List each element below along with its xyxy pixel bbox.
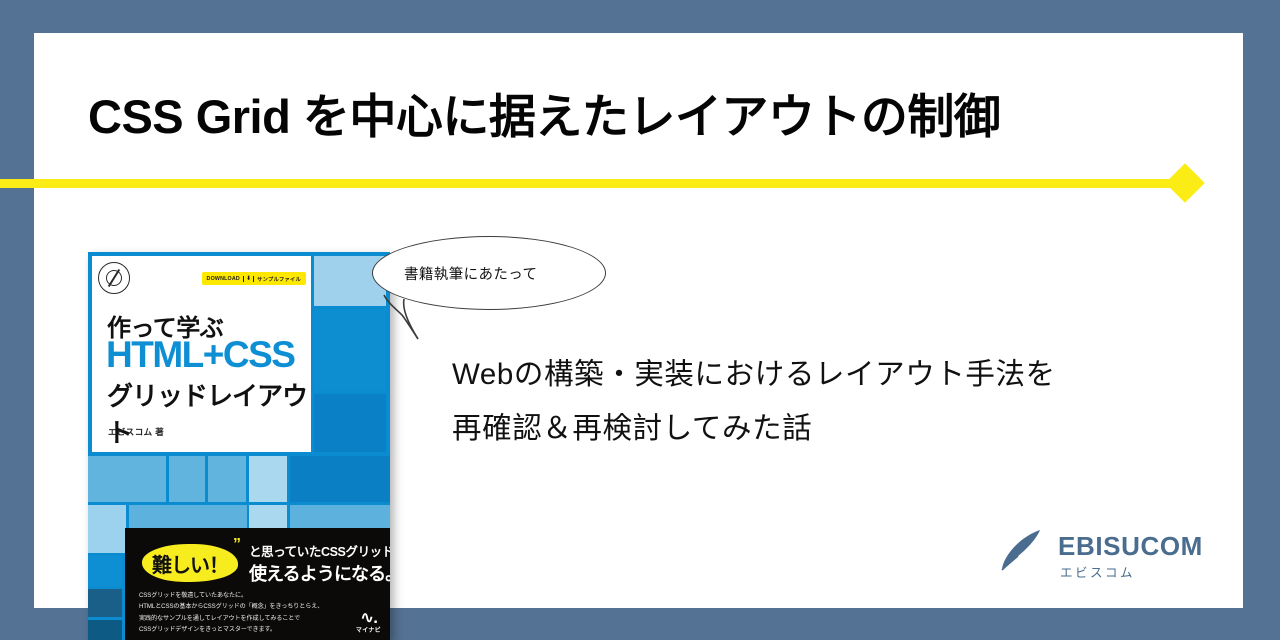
speech-bubble-text: 書籍執筆にあたって — [404, 263, 537, 284]
speech-bubble-tail-icon — [382, 293, 442, 341]
book-burst-badge: 難しい！ — [142, 544, 238, 582]
download-label: DOWNLOAD — [207, 276, 240, 282]
book-band-headline1: と思っていたCSSグリッドが — [249, 541, 390, 560]
page-title: CSS Grid を中心に据えたレイアウトの制御 — [88, 86, 1188, 147]
book-band-headline2: 使えるようになる。 — [249, 560, 390, 586]
slide-root: CSS Grid を中心に据えたレイアウトの制御 — [0, 0, 1280, 640]
ebisucom-name: EBISUCOM — [1058, 531, 1203, 562]
publisher-name: マイナビ — [356, 625, 381, 634]
book-cover-face: DOWNLOAD ⬇ サンプルファイル 作って学ぶ HTML+CSS グリッドレ… — [92, 256, 311, 452]
download-sample-label: サンプルファイル — [257, 275, 301, 283]
ebisucom-logo: EBISUCOM エビスコム — [1000, 524, 1185, 586]
quote-mark-icon: ” — [233, 536, 241, 554]
lead-paragraph: Webの構築・実装におけるレイアウト手法を 再確認＆再検討してみた話 — [452, 348, 1212, 455]
book-title-line2: HTML+CSS — [106, 334, 294, 376]
compass-seal-icon — [98, 262, 130, 294]
download-sample-badge: DOWNLOAD ⬇ サンプルファイル — [202, 272, 306, 285]
download-arrow-icon: ⬇ — [243, 276, 254, 282]
accent-rule-bar — [0, 179, 1186, 188]
book-band-body: CSSグリッドを敬遠していたあなたに。 HTMLとCSSの基本からCSSグリッド… — [139, 590, 323, 635]
book-burst-label: 難しい！ — [152, 549, 228, 578]
lead-line-2: 再確認＆再検討してみた話 — [452, 402, 1212, 456]
book-title-line3: グリッドレイアウト — [107, 376, 311, 450]
book-bottom-band: 難しい！ ” と思っていたCSSグリッドが 使えるようになる。 CSSグリッドを… — [125, 528, 390, 640]
accent-arrow-rule — [0, 176, 1210, 190]
publisher-mark-icon: ∿. — [356, 610, 381, 625]
book-cover-image: DOWNLOAD ⬇ サンプルファイル 作って学ぶ HTML+CSS グリッドレ… — [88, 252, 390, 640]
ebisucom-sub: エビスコム — [1060, 562, 1135, 581]
lead-line-1: Webの構築・実装におけるレイアウト手法を — [452, 348, 1212, 402]
publisher-logo: ∿. マイナビ — [356, 610, 381, 634]
book-author: エビスコム 著 — [108, 426, 164, 438]
feather-quill-icon — [1000, 528, 1042, 572]
